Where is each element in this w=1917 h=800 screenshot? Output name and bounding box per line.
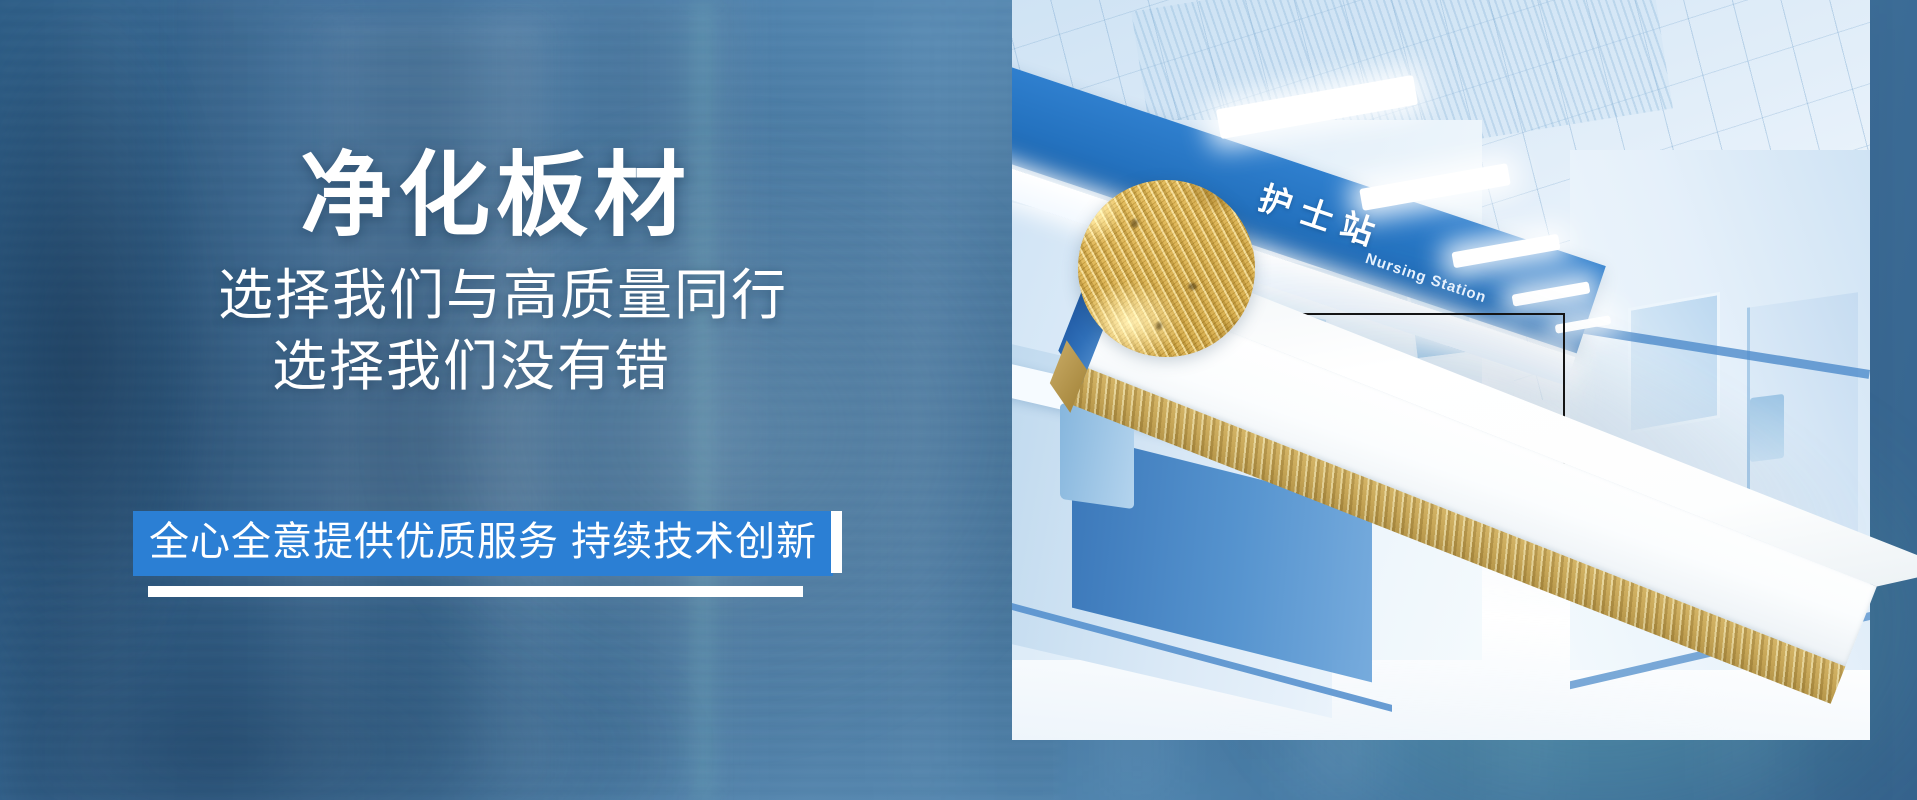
banner-subline-1: 选择我们与高质量同行 <box>218 262 788 328</box>
rockwool-speck-3 <box>1156 322 1162 330</box>
rockwool-texture <box>1078 180 1255 357</box>
banner-ribbon: 全心全意提供优质服务 持续技术创新 <box>133 511 842 576</box>
banner-copy: 净化板材 选择我们与高质量同行 选择我们没有错 全心全意提供优质服务 持续技术创… <box>0 0 1010 800</box>
rockwool-closeup-swatch <box>1078 180 1255 357</box>
callout-connector-horizontal <box>1270 313 1565 315</box>
banner-subline-2: 选择我们没有错 <box>272 333 671 399</box>
banner-ribbon-text: 全心全意提供优质服务 持续技术创新 <box>133 511 833 576</box>
banner-headline: 净化板材 <box>300 148 692 245</box>
banner-ribbon-underline <box>148 586 803 597</box>
rockwool-speck-2 <box>1188 283 1197 290</box>
banner-ribbon-caret <box>831 511 842 573</box>
rockwool-speck-1 <box>1131 219 1138 228</box>
banner-stage: 考勤表 护士站 Nursing Station <box>0 0 1917 800</box>
